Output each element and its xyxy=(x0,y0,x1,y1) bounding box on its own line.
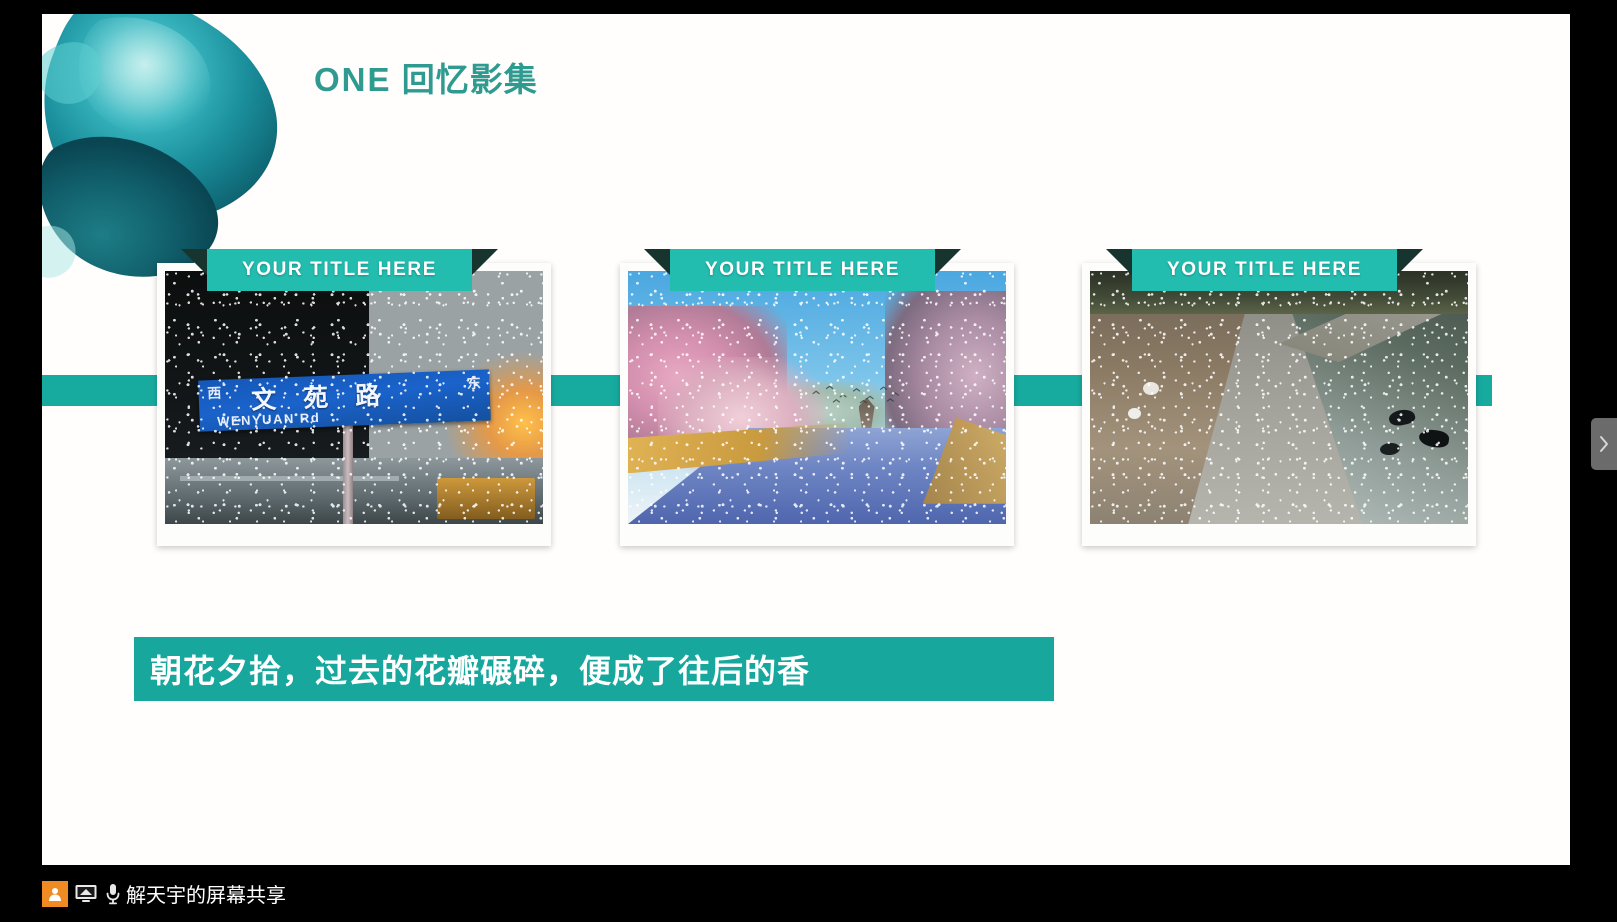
card-title-ribbon[interactable]: YOUR TITLE HERE xyxy=(1132,249,1397,291)
photo-card[interactable]: 西 东 文 苑 路 WENYUAN Rd YOUR TITLE HERE xyxy=(157,249,551,546)
photo-lakeside-path xyxy=(1090,271,1468,524)
polaroid-frame xyxy=(1082,263,1476,546)
microphone-icon[interactable] xyxy=(104,882,122,906)
next-slide-button[interactable] xyxy=(1591,418,1617,470)
polaroid-frame: 西 东 文 苑 路 WENYUAN Rd xyxy=(157,263,551,546)
card-title-ribbon[interactable]: YOUR TITLE HERE xyxy=(670,249,935,291)
caption-banner: 朝花夕拾，过去的花瓣碾碎，便成了往后的香 xyxy=(134,637,1054,701)
photo-cherry-blossom-avenue xyxy=(628,271,1006,524)
screen-share-taskbar: 解天宇的屏幕共享 xyxy=(0,865,1617,922)
card-title-label: YOUR TITLE HERE xyxy=(1167,259,1362,281)
screen-share-status-text: 解天宇的屏幕共享 xyxy=(126,879,286,908)
chevron-right-icon xyxy=(1598,435,1610,453)
polaroid-frame xyxy=(620,263,1014,546)
card-title-label: YOUR TITLE HERE xyxy=(242,259,437,281)
person-icon[interactable] xyxy=(42,881,68,907)
screen-share-window: ONE 回忆影集 西 xyxy=(0,0,1617,922)
card-title-label: YOUR TITLE HERE xyxy=(705,259,900,281)
photo-snowy-street-sign: 西 东 文 苑 路 WENYUAN Rd xyxy=(165,271,543,524)
photo-card[interactable]: YOUR TITLE HERE xyxy=(620,249,1014,546)
photo-card[interactable]: YOUR TITLE HERE xyxy=(1082,249,1476,546)
snow-overlay xyxy=(628,271,1006,524)
monitor-icon[interactable] xyxy=(74,883,98,905)
snow-overlay xyxy=(1090,271,1468,524)
caption-text: 朝花夕拾，过去的花瓣碾碎，便成了往后的香 xyxy=(150,646,810,692)
card-title-ribbon[interactable]: YOUR TITLE HERE xyxy=(207,249,472,291)
photo-card-list: 西 东 文 苑 路 WENYUAN Rd YOUR TITLE HERE xyxy=(42,14,1570,865)
presentation-slide: ONE 回忆影集 西 xyxy=(42,14,1570,865)
snow-overlay xyxy=(165,271,543,524)
